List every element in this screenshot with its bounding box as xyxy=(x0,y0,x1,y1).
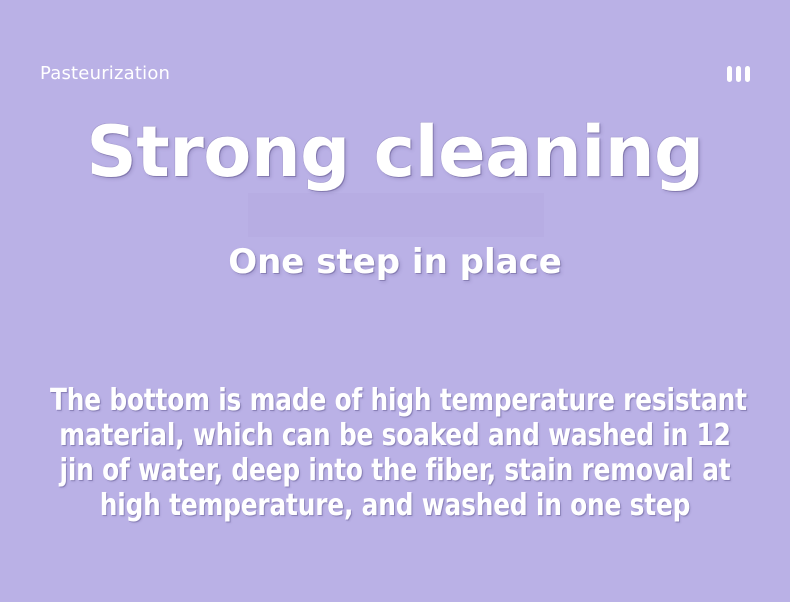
body-copy-line: material, which can be soaked and washed… xyxy=(50,418,740,453)
eyebrow-label: Pasteurization xyxy=(40,62,170,86)
bar-1 xyxy=(727,66,732,82)
page-subtitle: One step in place xyxy=(0,240,790,284)
body-copy: The bottom is made of high temperature r… xyxy=(50,383,740,523)
body-copy-line: high temperature, and washed in one step xyxy=(50,488,740,523)
bar-3 xyxy=(745,66,750,82)
promo-banner: Pasteurization Strong cleaning One step … xyxy=(0,0,790,602)
background-tone-block xyxy=(248,193,544,237)
bar-2 xyxy=(736,66,741,82)
body-copy-line: jin of water, deep into the fiber, stain… xyxy=(50,453,740,488)
page-title: Strong cleaning xyxy=(0,112,790,192)
three-vertical-bars-icon[interactable] xyxy=(727,66,750,82)
body-copy-line: The bottom is made of high temperature r… xyxy=(50,383,740,418)
banner-top-bar: Pasteurization xyxy=(0,62,790,92)
